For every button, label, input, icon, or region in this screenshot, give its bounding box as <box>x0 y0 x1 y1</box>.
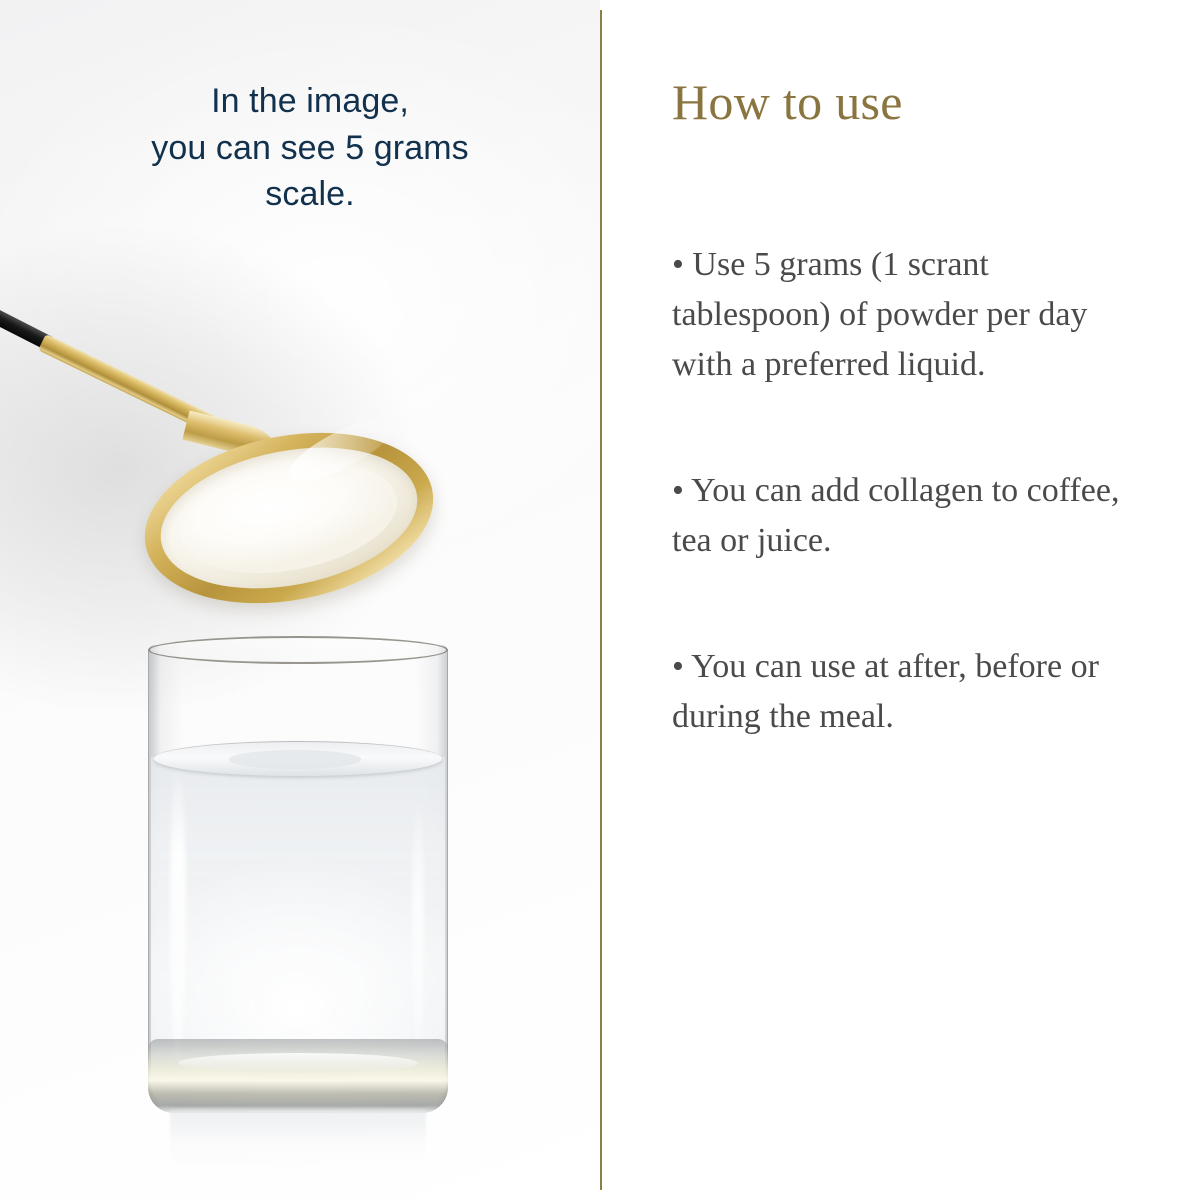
infographic-page: In the image, you can see 5 grams scale.… <box>0 0 1200 1200</box>
spoon-bowl-inner <box>149 427 430 609</box>
instructions-panel: How to use • Use 5 grams (1 scrant table… <box>672 0 1142 1200</box>
spoon-bowl <box>130 410 448 627</box>
instruction-list: • Use 5 grams (1 scrant tablespoon) of p… <box>672 240 1140 742</box>
glass-highlight-left <box>170 765 186 1065</box>
glass-rim <box>148 636 448 664</box>
list-item: • You can use at after, before or during… <box>672 642 1140 742</box>
water-glass-image <box>148 645 448 1113</box>
glass-highlight-right <box>412 795 424 1045</box>
glass-base <box>148 1039 448 1113</box>
image-caption: In the image, you can see 5 grams scale. <box>60 78 560 218</box>
list-item: • You can add collagen to coffee, tea or… <box>672 466 1140 566</box>
glass-surface-reflection <box>170 1110 426 1172</box>
spoon-with-powder-image <box>0 270 470 615</box>
list-item: • Use 5 grams (1 scrant tablespoon) of p… <box>672 240 1140 390</box>
panel-title: How to use <box>672 76 903 129</box>
collagen-powder <box>171 445 408 590</box>
vertical-divider <box>600 10 602 1190</box>
water-surface-ellipse <box>154 741 442 776</box>
